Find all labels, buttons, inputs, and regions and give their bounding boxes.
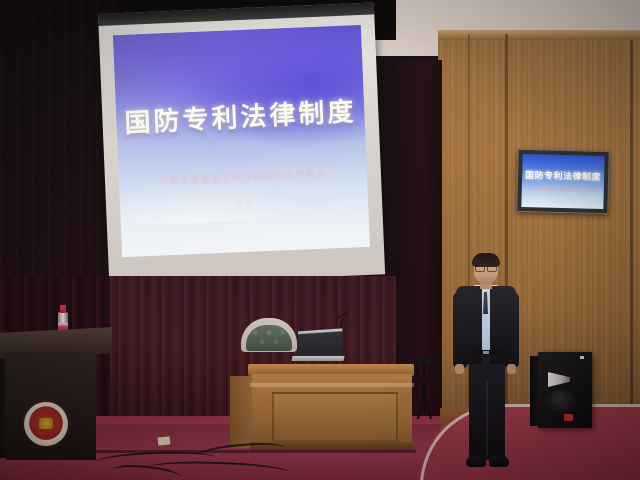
tripod-leg xyxy=(417,363,433,420)
presenter-left-hand xyxy=(455,364,464,374)
speaker-led-icon xyxy=(580,356,584,359)
tv-slide-subtitle: 中央军委装备发展部国防知识产权局 xyxy=(522,186,604,194)
organization-emblem-icon xyxy=(24,402,68,446)
desk-lip-trim xyxy=(250,383,414,387)
slide-presenter-name: 王华 xyxy=(120,194,368,215)
chair-upholstery xyxy=(246,325,292,351)
desk-front-panel xyxy=(272,392,398,442)
presenter xyxy=(452,252,520,478)
speaker-woofer xyxy=(546,390,576,412)
slide-surface: 国防专利法律制度 中央军委装备发展部国防知识产权局 王华 xyxy=(113,25,370,257)
laptop-screen xyxy=(298,328,342,358)
bottle-cap xyxy=(60,305,66,313)
tripod-leg xyxy=(423,362,425,412)
presenter-right-hand xyxy=(507,364,516,374)
presenter-left-shoe xyxy=(466,456,486,467)
projection-screen: 国防专利法律制度 中央军委装备发展部国防知识产权局 王华 xyxy=(98,2,385,285)
slide-title: 国防专利法律制度 xyxy=(116,90,365,140)
wall-mounted-tv: 国防专利法律制度 中央军委装备发展部国防知识产权局 xyxy=(516,149,610,214)
wood-seam xyxy=(630,40,633,434)
tv-slide-title: 国防专利法律制度 xyxy=(522,168,604,183)
eyeglasses-icon xyxy=(475,265,497,270)
slide-subtitle: 中央军委装备发展部国防知识产权局 xyxy=(119,165,367,188)
tv-screen: 国防专利法律制度 中央军委装备发展部国防知识产权局 xyxy=(521,154,604,209)
laptop-base xyxy=(291,356,344,361)
lecture-hall-photo: 国防专利法律制度 中央军委装备发展部国防知识产权局 王华 国防专利法律制度 中央… xyxy=(0,0,640,480)
floor-marker xyxy=(158,436,171,445)
trouser-crease xyxy=(486,380,488,460)
speaker-brand-logo-icon xyxy=(564,414,573,421)
presenter-right-shoe xyxy=(489,456,509,467)
belt-buckle xyxy=(483,351,489,354)
